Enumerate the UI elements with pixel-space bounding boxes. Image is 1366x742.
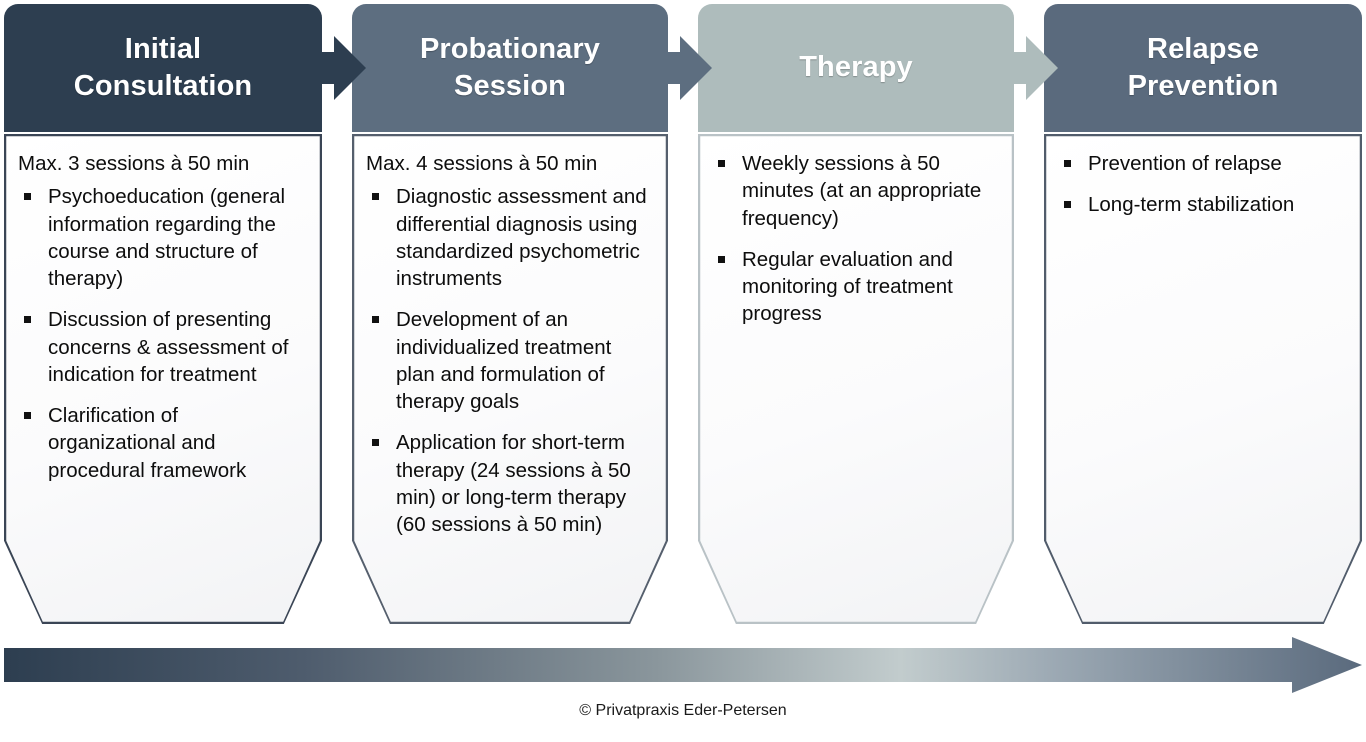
bullet-text: Regular evaluation and monitoring of tre… xyxy=(742,248,953,326)
right-arrow-icon xyxy=(650,36,712,100)
stage-body-probationary-session: Max. 4 sessions à 50 min Diagnostic asse… xyxy=(352,134,668,624)
stage-header-initial-consultation: Initial Consultation xyxy=(4,4,322,132)
stage-body-initial-consultation: Max. 3 sessions à 50 min Psychoeducation… xyxy=(4,134,322,624)
stage-lead-text: Max. 3 sessions à 50 min xyxy=(18,150,308,177)
stage-lead-text: Max. 4 sessions à 50 min xyxy=(366,150,654,177)
bullet-text: Prevention of relapse xyxy=(1088,152,1282,175)
stage-body-therapy: Weekly sessions à 50 minutes (at an appr… xyxy=(698,134,1014,624)
list-item: Prevention of relapse xyxy=(1058,150,1348,177)
right-arrow-icon xyxy=(996,36,1058,100)
bullet-square-icon xyxy=(718,160,725,167)
bullet-square-icon xyxy=(1064,201,1071,208)
stage-header-therapy: Therapy xyxy=(698,4,1014,132)
bullet-text: Discussion of presenting concerns & asse… xyxy=(48,308,288,386)
stage-body-relapse-prevention: Prevention of relapse Long-term stabiliz… xyxy=(1044,134,1362,624)
stage-relapse-prevention: Relapse Prevention Prevention of relapse… xyxy=(1044,4,1362,624)
bullet-square-icon xyxy=(718,256,725,263)
bullet-square-icon xyxy=(372,439,379,446)
connector-arrow-2-to-3 xyxy=(650,34,712,102)
panel-content: Weekly sessions à 50 minutes (at an appr… xyxy=(698,134,1014,624)
stage-bullet-list: Weekly sessions à 50 minutes (at an appr… xyxy=(712,150,1000,328)
stage-header-relapse-prevention: Relapse Prevention xyxy=(1044,4,1362,132)
stage-title: Probationary Session xyxy=(420,31,600,105)
stage-bullet-list: Psychoeducation (general information reg… xyxy=(18,183,308,484)
bullet-text: Clarification of organizational and proc… xyxy=(48,404,246,482)
stage-header-probationary-session: Probationary Session xyxy=(352,4,668,132)
bullet-square-icon xyxy=(372,316,379,323)
copyright-footer: © Privatpraxis Eder-Petersen xyxy=(0,702,1366,720)
stage-initial-consultation: Initial Consultation Max. 3 sessions à 5… xyxy=(4,4,322,624)
stage-title: Relapse Prevention xyxy=(1128,31,1279,105)
bullet-text: Diagnostic assessment and differential d… xyxy=(396,185,647,290)
list-item: Application for short-term therapy (24 s… xyxy=(366,429,654,538)
panel-content: Max. 4 sessions à 50 min Diagnostic asse… xyxy=(352,134,668,624)
bullet-text: Development of an individualized treatme… xyxy=(396,308,611,413)
list-item: Psychoeducation (general information reg… xyxy=(18,183,308,292)
list-item: Long-term stabilization xyxy=(1058,191,1348,218)
progression-timeline-arrow xyxy=(4,637,1362,693)
list-item: Diagnostic assessment and differential d… xyxy=(366,183,654,292)
stage-bullet-list: Diagnostic assessment and differential d… xyxy=(366,183,654,538)
list-item: Weekly sessions à 50 minutes (at an appr… xyxy=(712,150,1000,232)
timeline-arrow-shape xyxy=(4,637,1362,693)
list-item: Regular evaluation and monitoring of tre… xyxy=(712,246,1000,328)
bullet-square-icon xyxy=(1064,160,1071,167)
bullet-text: Weekly sessions à 50 minutes (at an appr… xyxy=(742,152,981,230)
bullet-text: Long-term stabilization xyxy=(1088,193,1294,216)
connector-arrow-3-to-4 xyxy=(996,34,1058,102)
bullet-square-icon xyxy=(24,316,31,323)
bullet-text: Application for short-term therapy (24 s… xyxy=(396,431,631,536)
list-item: Development of an individualized treatme… xyxy=(366,306,654,415)
stage-bullet-list: Prevention of relapse Long-term stabiliz… xyxy=(1058,150,1348,219)
panel-content: Prevention of relapse Long-term stabiliz… xyxy=(1044,134,1362,624)
stage-title: Therapy xyxy=(799,49,913,86)
stage-probationary-session: Probationary Session Max. 4 sessions à 5… xyxy=(352,4,668,624)
bullet-square-icon xyxy=(24,193,31,200)
bullet-text: Psychoeducation (general information reg… xyxy=(48,185,285,290)
stage-therapy: Therapy Weekly sessions à 50 minutes (at… xyxy=(698,4,1014,624)
right-arrow-icon xyxy=(304,36,366,100)
connector-arrow-1-to-2 xyxy=(304,34,366,102)
therapy-process-diagram: Initial Consultation Max. 3 sessions à 5… xyxy=(0,0,1366,742)
panel-content: Max. 3 sessions à 50 min Psychoeducation… xyxy=(4,134,322,624)
list-item: Clarification of organizational and proc… xyxy=(18,402,308,484)
bullet-square-icon xyxy=(372,193,379,200)
bullet-square-icon xyxy=(24,412,31,419)
list-item: Discussion of presenting concerns & asse… xyxy=(18,306,308,388)
footer-subline xyxy=(0,726,1366,742)
stage-title: Initial Consultation xyxy=(74,31,252,105)
